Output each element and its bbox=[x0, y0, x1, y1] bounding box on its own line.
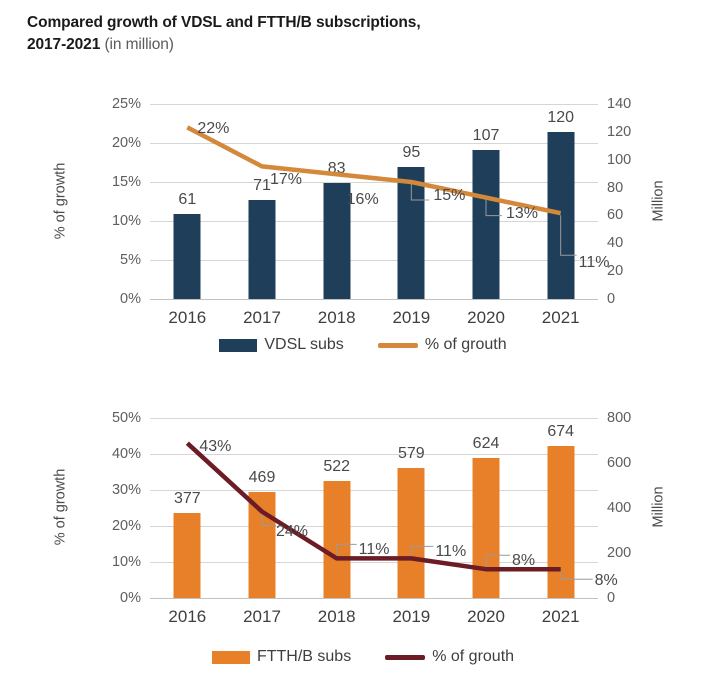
bar-slot: 674 bbox=[523, 418, 598, 598]
line-value-label: 11% bbox=[359, 542, 390, 558]
legend-item[interactable]: % of grouth bbox=[385, 648, 514, 666]
y-axis-tick: 25% bbox=[112, 97, 141, 112]
y2-axis-tick: 600 bbox=[607, 456, 631, 471]
bar[interactable] bbox=[473, 150, 500, 299]
y2-axis-title-vdsl: Million bbox=[651, 180, 667, 221]
bar[interactable] bbox=[547, 446, 574, 598]
x-axis-tick: 2020 bbox=[449, 607, 524, 627]
legend-label: % of grouth bbox=[432, 648, 514, 666]
line-value-label: 16% bbox=[347, 192, 379, 208]
y-axis-tick: 20% bbox=[112, 519, 141, 534]
legend-label: % of grouth bbox=[425, 336, 507, 354]
x-axis-tick: 2021 bbox=[523, 308, 598, 328]
bar-value-label: 107 bbox=[473, 128, 500, 144]
y2-axis-tick: 120 bbox=[607, 125, 631, 140]
gridline bbox=[150, 299, 598, 300]
y2-axis-title-ftth: Million bbox=[651, 486, 667, 527]
y-axis-tick: 20% bbox=[112, 136, 141, 151]
x-axis-tick: 2018 bbox=[299, 607, 374, 627]
bar[interactable] bbox=[473, 458, 500, 598]
legend-vdsl: VDSL subs% of grouth bbox=[0, 336, 726, 354]
y2-axis-tick: 40 bbox=[607, 236, 623, 251]
bar-value-label: 624 bbox=[473, 436, 500, 452]
line-value-label: 17% bbox=[270, 172, 302, 188]
legend-ftth: FTTH/B subs% of grouth bbox=[0, 648, 726, 666]
y-axis-tick: 15% bbox=[112, 175, 141, 190]
y2-axis-tick: 400 bbox=[607, 501, 631, 516]
bar-value-label: 579 bbox=[398, 446, 425, 462]
plot-area-ftth: 0%10%20%30%40%50%02004006008003774695225… bbox=[150, 418, 598, 598]
x-axis-tick: 2019 bbox=[374, 607, 449, 627]
bar[interactable] bbox=[174, 214, 201, 299]
legend-line-swatch-icon bbox=[385, 655, 425, 660]
bar-value-label: 71 bbox=[253, 178, 271, 194]
line-value-label: 43% bbox=[199, 439, 231, 455]
legend-bar-swatch-icon bbox=[212, 651, 250, 664]
bar-slot: 579 bbox=[374, 418, 449, 598]
line-value-label: 15% bbox=[433, 188, 465, 204]
x-axis-tick: 2020 bbox=[449, 308, 524, 328]
y-axis-tick: 30% bbox=[112, 483, 141, 498]
y2-axis-tick: 60 bbox=[607, 208, 623, 223]
title-line-1: Compared growth of VDSL and FTTH/B subsc… bbox=[27, 12, 667, 34]
x-axis-tick: 2021 bbox=[523, 607, 598, 627]
gridline bbox=[150, 598, 598, 599]
y-axis-tick: 5% bbox=[120, 253, 141, 268]
chart-vdsl: 0%5%10%15%20%25%020406080100120140617183… bbox=[0, 88, 726, 378]
x-axis-tick: 2016 bbox=[150, 607, 225, 627]
legend-bar-swatch-icon bbox=[219, 339, 257, 352]
bar-value-label: 61 bbox=[178, 192, 196, 208]
y-axis-title-vdsl: % of growth bbox=[52, 162, 68, 239]
bar-value-label: 674 bbox=[547, 424, 574, 440]
y-axis-tick: 10% bbox=[112, 214, 141, 229]
y-axis-tick: 0% bbox=[120, 591, 141, 606]
y2-axis-tick: 100 bbox=[607, 153, 631, 168]
x-axis-tick: 2019 bbox=[374, 308, 449, 328]
plot-area-vdsl: 0%5%10%15%20%25%020406080100120140617183… bbox=[150, 104, 598, 299]
bar-slot: 624 bbox=[449, 418, 524, 598]
x-axis-tick: 2018 bbox=[299, 308, 374, 328]
y2-axis-tick: 0 bbox=[607, 591, 615, 606]
line-value-label: 13% bbox=[506, 206, 538, 222]
bar-value-label: 522 bbox=[323, 459, 350, 475]
y-axis-tick: 10% bbox=[112, 555, 141, 570]
line-value-label: 8% bbox=[512, 553, 535, 569]
y2-axis-tick: 0 bbox=[607, 292, 615, 307]
y2-axis-tick: 80 bbox=[607, 181, 623, 196]
legend-label: VDSL subs bbox=[264, 336, 343, 354]
y-axis-tick: 40% bbox=[112, 447, 141, 462]
legend-item[interactable]: % of grouth bbox=[378, 336, 507, 354]
legend-item[interactable]: VDSL subs bbox=[219, 336, 343, 354]
bar[interactable] bbox=[398, 468, 425, 598]
legend-label: FTTH/B subs bbox=[257, 648, 351, 666]
bar[interactable] bbox=[174, 513, 201, 598]
chart-ftth: 0%10%20%30%40%50%02004006008003774695225… bbox=[0, 396, 726, 688]
bar-value-label: 83 bbox=[328, 161, 346, 177]
bar-slot: 469 bbox=[225, 418, 300, 598]
y2-axis-tick: 800 bbox=[607, 411, 631, 426]
y2-axis-tick: 200 bbox=[607, 546, 631, 561]
line-value-label: 11% bbox=[579, 255, 610, 271]
line-value-label: 8% bbox=[595, 573, 618, 589]
bar[interactable] bbox=[249, 200, 276, 299]
y-axis-tick: 0% bbox=[120, 292, 141, 307]
bar-slot: 71 bbox=[225, 104, 300, 299]
y-axis-tick: 50% bbox=[112, 411, 141, 426]
legend-item[interactable]: FTTH/B subs bbox=[212, 648, 351, 666]
page-title: Compared growth of VDSL and FTTH/B subsc… bbox=[27, 12, 667, 56]
x-axis-categories-ftth: 201620172018201920202021 bbox=[150, 607, 598, 627]
title-line-2: 2017-2021 (in million) bbox=[27, 34, 667, 56]
bar-value-label: 377 bbox=[174, 491, 201, 507]
bar-slot: 522 bbox=[299, 418, 374, 598]
bar-value-label: 120 bbox=[547, 110, 574, 126]
x-axis-tick: 2017 bbox=[225, 607, 300, 627]
bar[interactable] bbox=[398, 167, 425, 299]
line-value-label: 22% bbox=[197, 121, 229, 137]
x-axis-categories-vdsl: 201620172018201920202021 bbox=[150, 308, 598, 328]
x-axis-tick: 2016 bbox=[150, 308, 225, 328]
bar[interactable] bbox=[547, 132, 574, 299]
legend-line-swatch-icon bbox=[378, 343, 418, 348]
bar-value-label: 469 bbox=[249, 470, 276, 486]
x-axis-tick: 2017 bbox=[225, 308, 300, 328]
line-value-label: 24% bbox=[276, 524, 308, 540]
bar-value-label: 95 bbox=[402, 145, 420, 161]
y2-axis-tick: 140 bbox=[607, 97, 631, 112]
title-unit: (in million) bbox=[104, 36, 173, 53]
y-axis-title-ftth: % of growth bbox=[52, 469, 68, 546]
bar[interactable] bbox=[323, 481, 350, 598]
line-value-label: 11% bbox=[435, 544, 466, 560]
title-years: 2017-2021 bbox=[27, 36, 100, 53]
bar[interactable] bbox=[249, 492, 276, 598]
